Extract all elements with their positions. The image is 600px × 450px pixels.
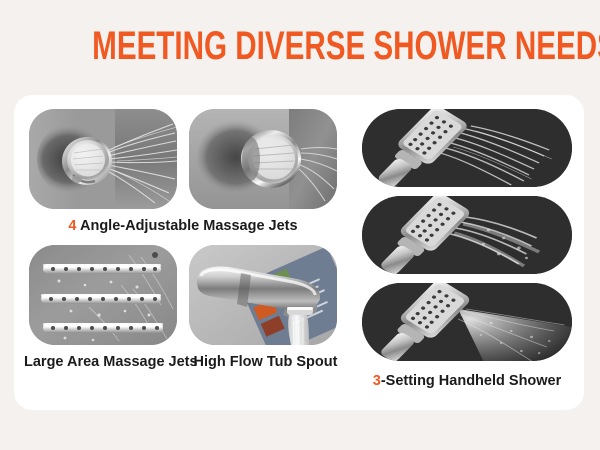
content-card: 4 Angle-Adjustable Massage Jets xyxy=(14,95,584,410)
handheld-shower-massage-art xyxy=(362,196,572,274)
image-handheld-shower-setting-massage xyxy=(362,196,572,274)
caption-angle-adjustable-massage-jets-text: Angle-Adjustable Massage Jets xyxy=(80,218,298,234)
page-title-wrapper: MEETING DIVERSE SHOWER NEEDS xyxy=(0,26,600,66)
massage-jet-bars-art xyxy=(29,245,177,345)
caption-angle-adjustable-massage-jets: 4 Angle-Adjustable Massage Jets xyxy=(24,217,342,235)
poster-root: MEETING DIVERSE SHOWER NEEDS xyxy=(0,0,600,450)
image-large-area-massage-jet-bars xyxy=(29,245,177,345)
left-column: 4 Angle-Adjustable Massage Jets xyxy=(14,95,350,410)
image-handheld-shower-setting-mist xyxy=(362,283,572,361)
caption-handheld-shower: 3-Setting Handheld Shower xyxy=(362,373,572,389)
caption-count-3: 3 xyxy=(373,373,381,389)
image-high-flow-tub-spout xyxy=(189,245,337,345)
right-column: 3-Setting Handheld Shower xyxy=(350,95,584,410)
handheld-shower-mist-art xyxy=(362,283,572,361)
content-card-inner: 4 Angle-Adjustable Massage Jets xyxy=(14,95,584,410)
massage-jet-spray-art xyxy=(29,109,177,209)
massage-jet-caption-row: 4 Angle-Adjustable Massage Jets xyxy=(24,217,342,235)
large-area-and-spout-image-row xyxy=(24,245,342,345)
image-handheld-shower-setting-rain xyxy=(362,109,572,187)
image-angle-adjustable-massage-jet-spray xyxy=(29,109,177,209)
caption-count-4: 4 xyxy=(68,218,76,234)
tub-spout-art xyxy=(189,245,337,345)
massage-jet-closeup-art xyxy=(189,109,337,209)
caption-handheld-shower-text: -Setting Handheld Shower xyxy=(381,373,561,389)
massage-jet-image-row xyxy=(24,109,342,209)
page-title: MEETING DIVERSE SHOWER NEEDS xyxy=(92,26,600,66)
image-angle-adjustable-massage-jet-closeup xyxy=(189,109,337,209)
handheld-shower-rain-art xyxy=(362,109,572,187)
caption-high-flow-tub-spout: High Flow Tub Spout xyxy=(189,353,342,371)
bottom-caption-row: Large Area Massage Jets High Flow Tub Sp… xyxy=(24,353,342,371)
caption-large-area-massage-jets: Large Area Massage Jets xyxy=(24,353,183,371)
